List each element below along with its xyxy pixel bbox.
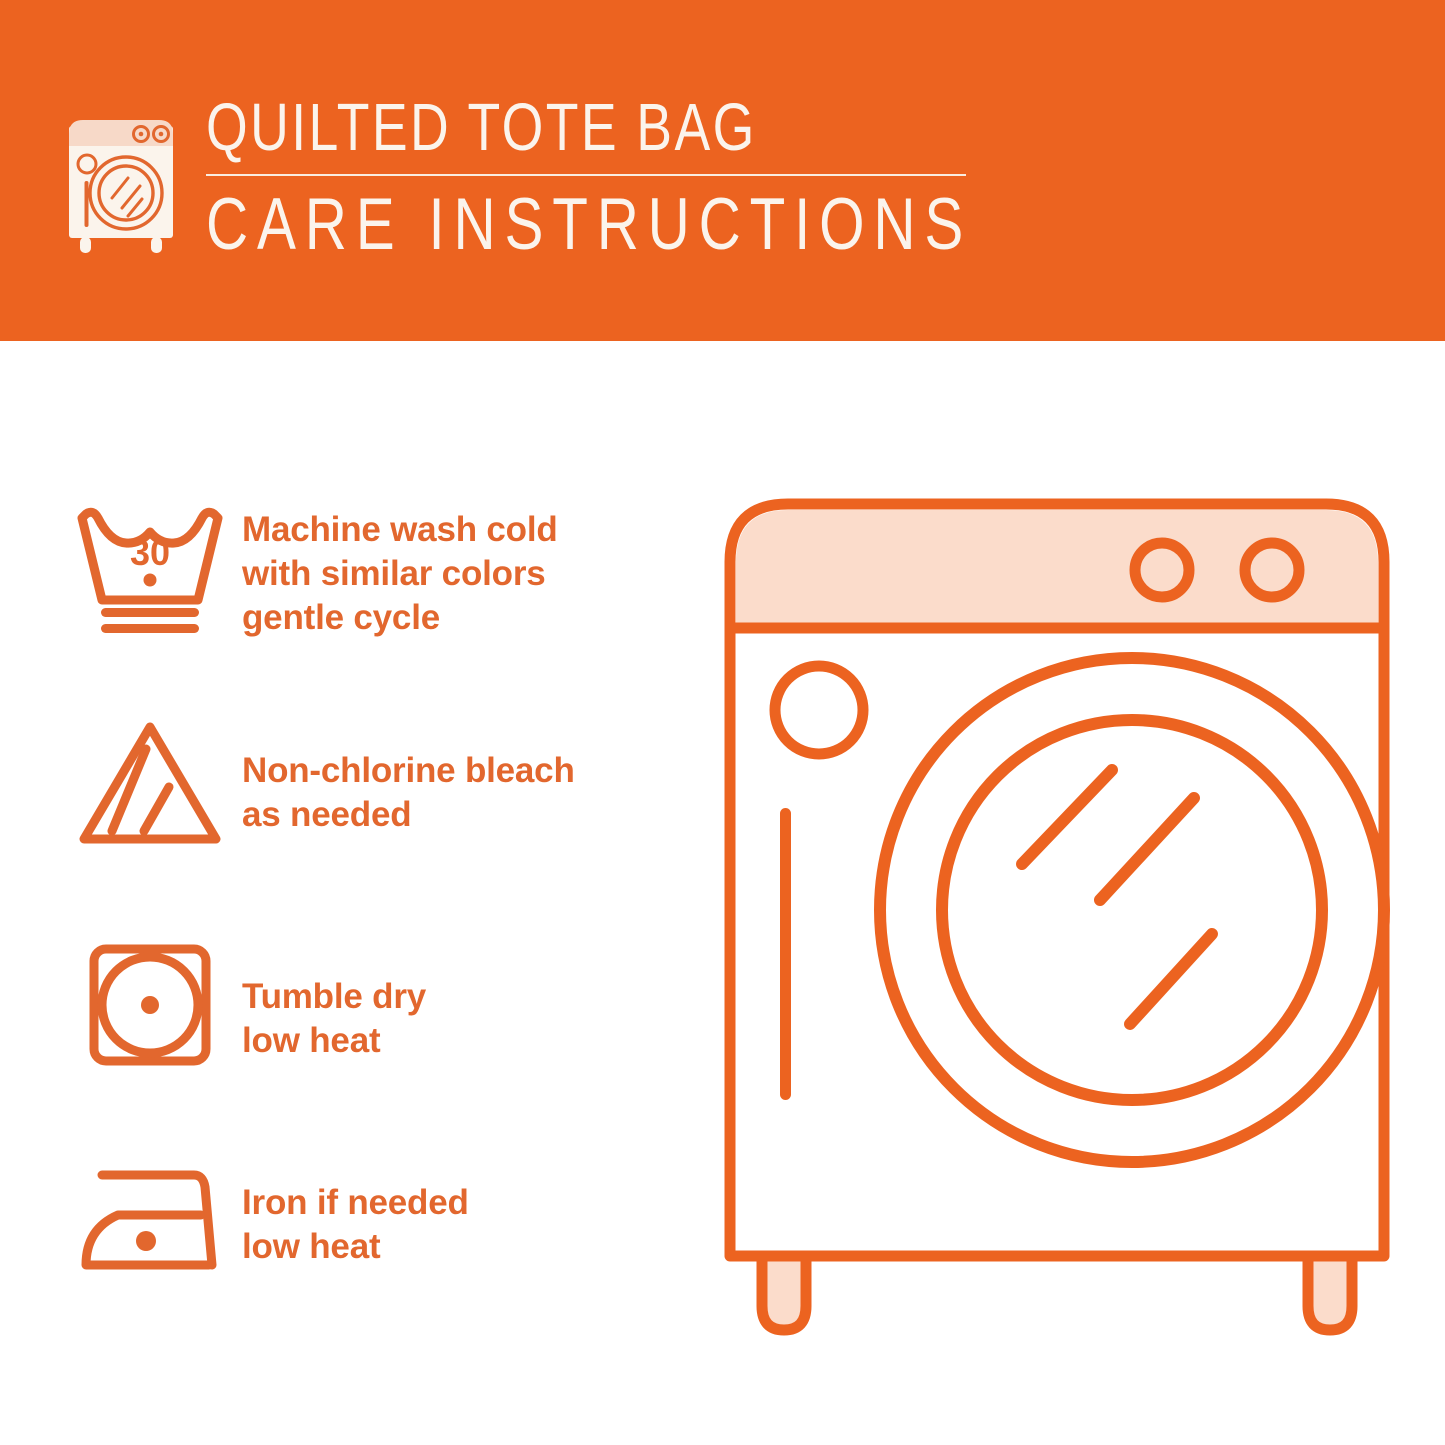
care-label-line: Iron if needed — [242, 1181, 469, 1225]
care-label-line: low heat — [242, 1225, 469, 1269]
care-instruction-list: 30 Machine wash cold with similar colors… — [0, 341, 700, 1445]
care-label-line: Machine wash cold — [242, 508, 558, 552]
control-panel — [736, 510, 1378, 628]
care-item-bleach: Non-chlorine bleach as needed — [62, 711, 682, 861]
tumble-dry-low-heat-symbol — [62, 933, 237, 1083]
care-label-line: with similar colors — [242, 552, 558, 596]
washing-machine-icon — [62, 98, 180, 258]
care-label-line: as needed — [242, 793, 575, 837]
svg-text:30: 30 — [129, 532, 169, 573]
iron-low-heat-symbol — [62, 1153, 237, 1303]
care-item-label: Machine wash cold with similar colors ge… — [242, 500, 558, 640]
title-divider — [206, 174, 966, 176]
non-chlorine-bleach-triangle-symbol — [62, 711, 237, 861]
wash-tub-30-gentle-symbol: 30 — [62, 500, 237, 650]
care-item-machine-wash: 30 Machine wash cold with similar colors… — [62, 500, 682, 650]
care-item-tumble-dry: Tumble dry low heat — [62, 933, 682, 1083]
care-item-label: Non-chlorine bleach as needed — [242, 711, 575, 837]
header-banner: QUILTED TOTE BAG CARE INSTRUCTIONS — [0, 0, 1445, 341]
header-title-block: QUILTED TOTE BAG CARE INSTRUCTIONS — [206, 92, 1164, 264]
header-content: QUILTED TOTE BAG CARE INSTRUCTIONS — [62, 92, 1164, 264]
care-item-iron: Iron if needed low heat — [62, 1153, 682, 1303]
care-item-label: Tumble dry low heat — [242, 933, 426, 1063]
care-label-line: low heat — [242, 1019, 426, 1063]
care-label-line: Tumble dry — [242, 975, 426, 1019]
page-title: QUILTED TOTE BAG — [206, 92, 972, 168]
page-subtitle: CARE INSTRUCTIONS — [206, 186, 972, 264]
care-label-line: Non-chlorine bleach — [242, 749, 575, 793]
washing-machine-illustration — [712, 478, 1402, 1378]
status-bar — [780, 808, 791, 1100]
care-label-line: gentle cycle — [242, 596, 558, 640]
care-item-label: Iron if needed low heat — [242, 1153, 469, 1269]
